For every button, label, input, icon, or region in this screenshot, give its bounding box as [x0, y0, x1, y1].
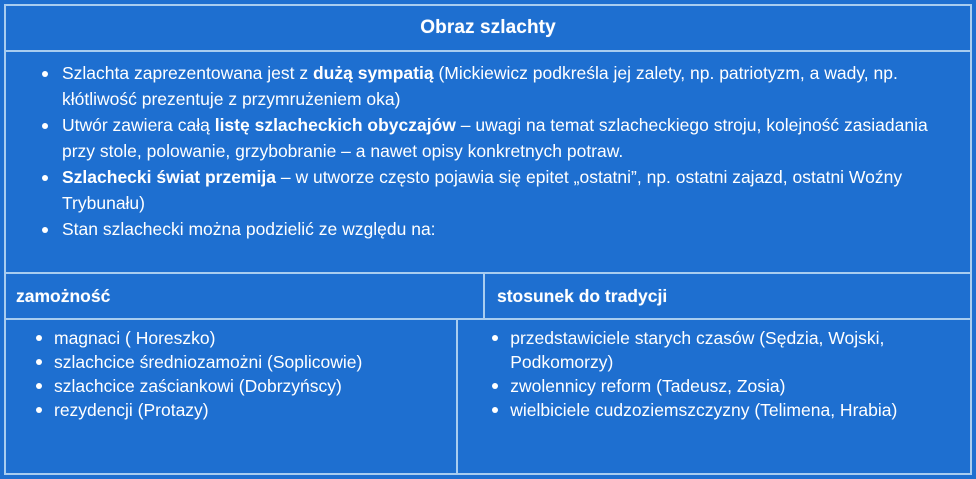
column-body-tradition: przedstawiciele starych czasów (Sędzia, … [458, 320, 970, 473]
list-item: magnaci ( Horeszko) [14, 326, 448, 350]
list-item: wielbiciele cudzoziemszczyzny (Telimena,… [470, 398, 962, 422]
column-header-cell-tradition: stosunek do tradycji [485, 274, 970, 318]
tradition-list: przedstawiciele starych czasów (Sędzia, … [470, 326, 962, 422]
table-title-row: Obraz szlachty [6, 6, 970, 52]
column-header-label: zamożność [16, 286, 110, 307]
list-item: Utwór zawiera całą listę szlacheckich ob… [16, 113, 960, 164]
list-item: szlachcice średniozamożni (Soplicowie) [14, 350, 448, 374]
column-body-wealth: magnaci ( Horeszko) szlachcice średnioza… [6, 320, 458, 473]
page-title: Obraz szlachty [420, 17, 556, 39]
list-item: Szlachta zaprezentowana jest z dużą symp… [16, 61, 960, 112]
list-item: szlachcice zaściankowi (Dobrzyńscy) [14, 374, 448, 398]
wealth-list: magnaci ( Horeszko) szlachcice średnioza… [14, 326, 448, 422]
column-body-row: magnaci ( Horeszko) szlachcice średnioza… [6, 320, 970, 473]
list-item: Szlachecki świat przemija – w utworze cz… [16, 165, 960, 216]
list-item: przedstawiciele starych czasów (Sędzia, … [470, 326, 962, 374]
main-bullet-list: Szlachta zaprezentowana jest z dużą symp… [16, 61, 960, 243]
main-bullets-section: Szlachta zaprezentowana jest z dużą symp… [6, 52, 970, 274]
column-header-row: zamożność stosunek do tradycji [6, 274, 970, 320]
column-header-cell-wealth: zamożność [6, 274, 485, 318]
content-table: Obraz szlachty Szlachta zaprezentowana j… [4, 4, 972, 475]
column-header-label: stosunek do tradycji [497, 286, 667, 307]
list-item: Stan szlachecki można podzielić ze wzglę… [16, 217, 960, 243]
list-item: rezydencji (Protazy) [14, 398, 448, 422]
slide-root: Obraz szlachty Szlachta zaprezentowana j… [0, 0, 976, 479]
list-item: zwolennicy reform (Tadeusz, Zosia) [470, 374, 962, 398]
